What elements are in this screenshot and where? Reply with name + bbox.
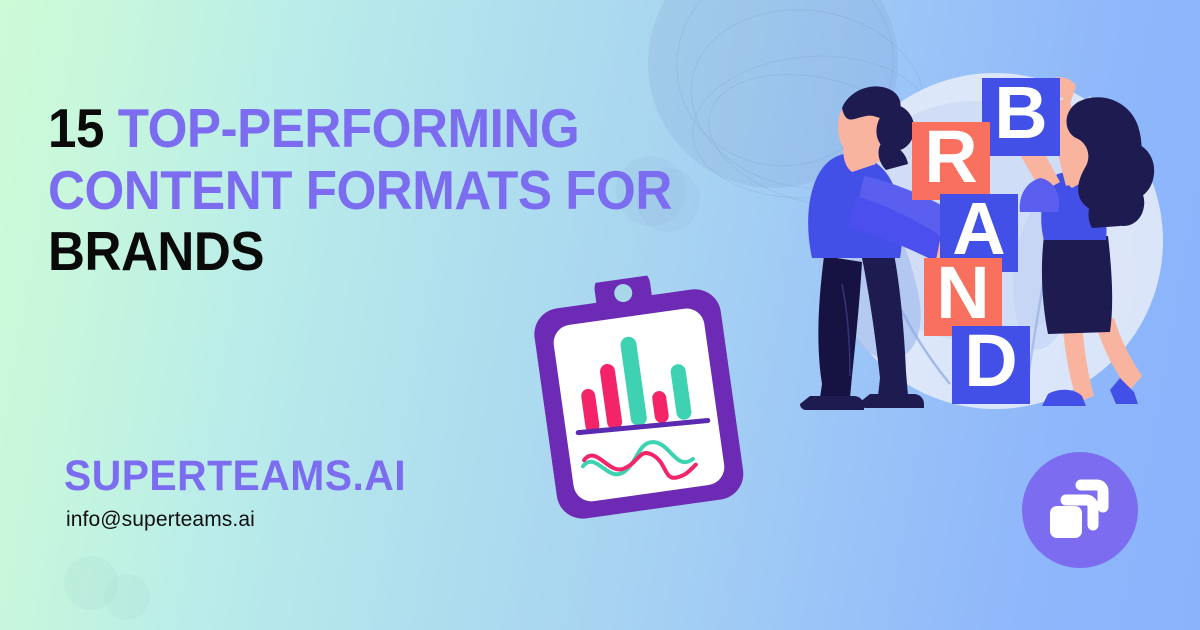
page-title: 15 TOP-PERFORMING CONTENT FORMATS FOR BR… <box>48 98 699 283</box>
headline-tail: BRANDS <box>48 220 264 282</box>
people-stacking-brand-blocks: B R A N D <box>790 46 1190 446</box>
block-letter-r: R <box>924 115 977 198</box>
headline-accent: TOP-PERFORMING CONTENT FORMATS FOR <box>48 97 672 221</box>
brand-email: info@superteams.ai <box>66 508 255 532</box>
block-letter-b: B <box>994 71 1047 154</box>
analytics-clipboard-illustration <box>522 265 753 530</box>
share-card-canvas: 15 TOP-PERFORMING CONTENT FORMATS FOR BR… <box>0 0 1200 630</box>
logo-badge[interactable] <box>1022 452 1138 568</box>
block-letter-d: D <box>964 319 1017 402</box>
headline-count: 15 <box>48 97 118 159</box>
brand-wordmark: SUPERTEAMS.AI <box>64 452 406 501</box>
background-soft-circle-6 <box>104 574 150 620</box>
background-soft-circle-5 <box>64 556 118 610</box>
